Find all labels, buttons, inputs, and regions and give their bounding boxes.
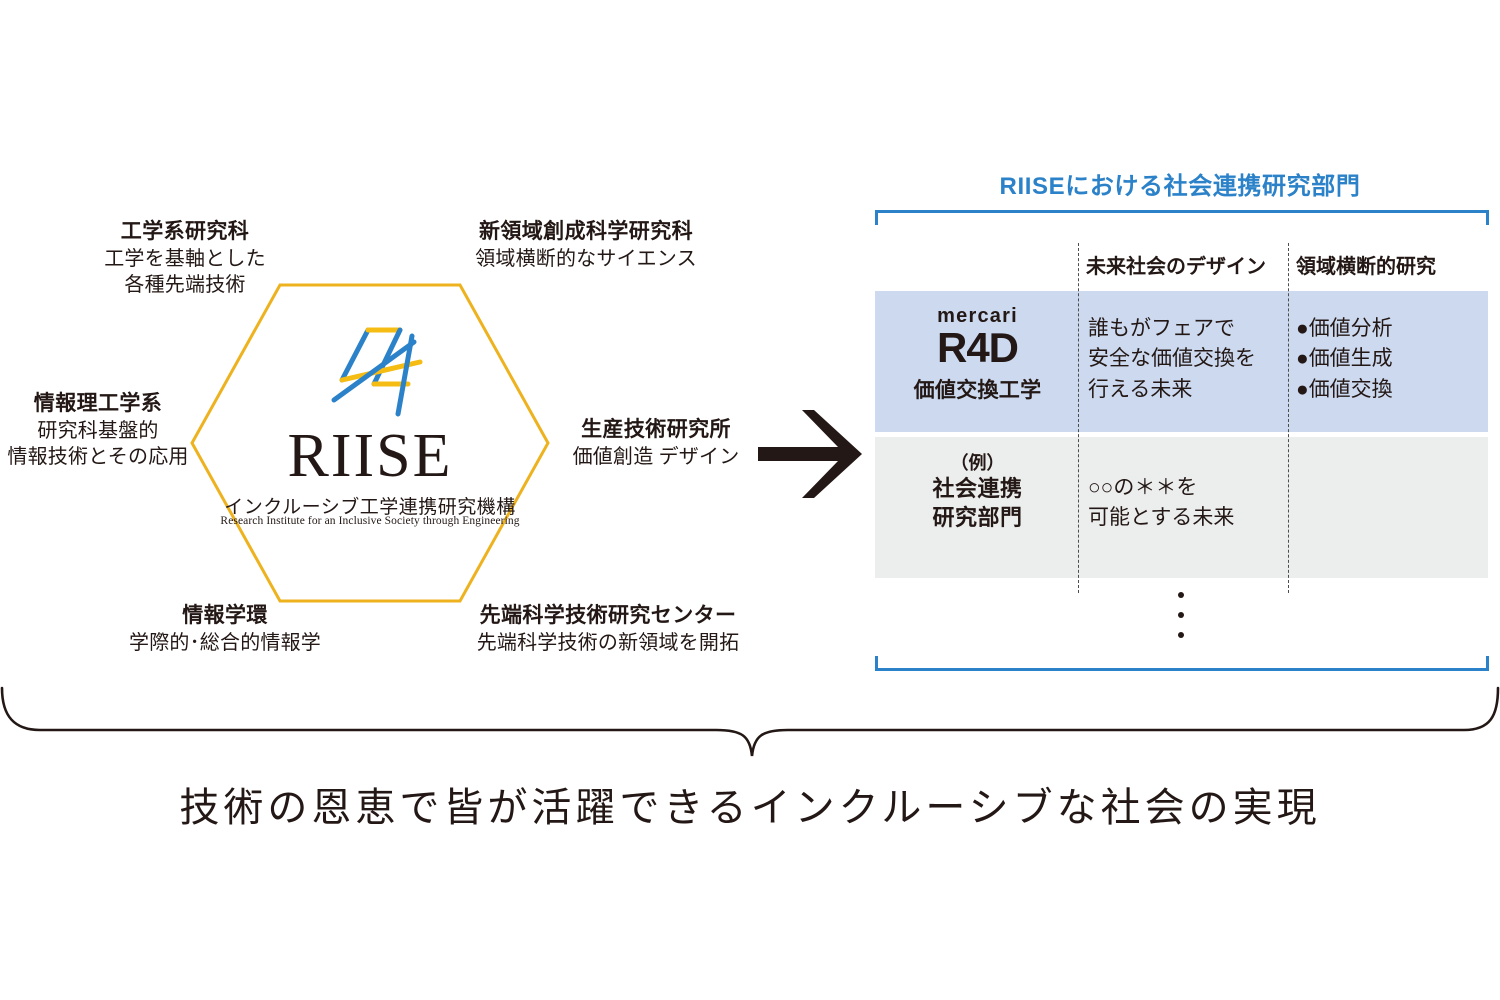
node-label-frontier-sciences: 新領域創成科学研究科 領域横断的なサイエンス xyxy=(426,218,746,272)
node-desc-interfaculty: 学際的･総合的情報学 xyxy=(65,630,385,656)
node-desc-frontier-sciences: 領域横断的なサイエンス xyxy=(426,246,746,272)
node-label-interfaculty: 情報学環 学際的･総合的情報学 xyxy=(65,602,385,656)
cell-future-society-design-row2: ○○の＊＊を 可能とする未来 xyxy=(1088,472,1234,533)
example-line-2: 研究部門 xyxy=(885,504,1070,533)
node-heading-rcast: 先端科学技術研究センター xyxy=(448,602,768,630)
node-label-rcast: 先端科学技術研究センター 先端科学技術の新領域を開拓 xyxy=(448,602,768,656)
riise-wordmark: RIISE xyxy=(190,425,550,487)
cell-division-example: （例） 社会連携 研究部門 xyxy=(885,452,1070,533)
column-divider-2 xyxy=(1288,243,1289,593)
footer-caption: 技術の恩恵で皆が活躍できるインクルーシブな社会の実現 xyxy=(0,775,1500,833)
bullet-icon: ● xyxy=(1296,346,1309,370)
column-header-cross-domain-research: 領域横断的研究 xyxy=(1296,250,1436,279)
column-divider-1 xyxy=(1078,243,1079,593)
node-desc-rcast: 先端科学技術の新領域を開拓 xyxy=(448,630,768,656)
node-heading-interfaculty: 情報学環 xyxy=(65,602,385,630)
panel-top-bracket-icon xyxy=(875,210,1489,231)
r4d-subtitle: 価値交換工学 xyxy=(885,374,1070,404)
bullet-icon: ● xyxy=(1296,316,1309,340)
column-header-future-society-design: 未来社会のデザイン xyxy=(1086,250,1266,279)
node-heading-frontier-sciences: 新領域創成科学研究科 xyxy=(426,218,746,246)
example-paren-label: （例） xyxy=(885,452,1070,475)
example-line-1: 社会連携 xyxy=(885,475,1070,504)
node-heading-engineering: 工学系研究科 xyxy=(25,218,345,246)
curly-brace-icon xyxy=(0,680,1500,765)
cell-cross-domain-research-row1: ●価値分析 ●価値生成 ●価値交換 xyxy=(1296,313,1393,404)
panel-bottom-bracket-icon xyxy=(875,655,1489,676)
right-arrow-icon xyxy=(758,408,868,505)
bullet-icon: ● xyxy=(1296,377,1309,401)
riise-english-name: Research Institute for an Inclusive Soci… xyxy=(190,515,550,527)
riise-abstract-mark-icon xyxy=(330,322,430,422)
cell-division-mercari-r4d: mercari R4D 価値交換工学 xyxy=(885,305,1070,404)
cell-future-society-design-row1: 誰もがフェアで 安全な価値交換を 行える未来 xyxy=(1088,313,1256,404)
r4d-program-wordmark: R4D xyxy=(885,326,1070,370)
panel-title: RIISEにおける社会連携研究部門 xyxy=(870,166,1490,201)
diagram-canvas: 工学系研究科 工学を基軸とした 各種先端技術 新領域創成科学研究科 領域横断的な… xyxy=(0,0,1500,1000)
vertical-ellipsis-icon xyxy=(1178,592,1184,652)
